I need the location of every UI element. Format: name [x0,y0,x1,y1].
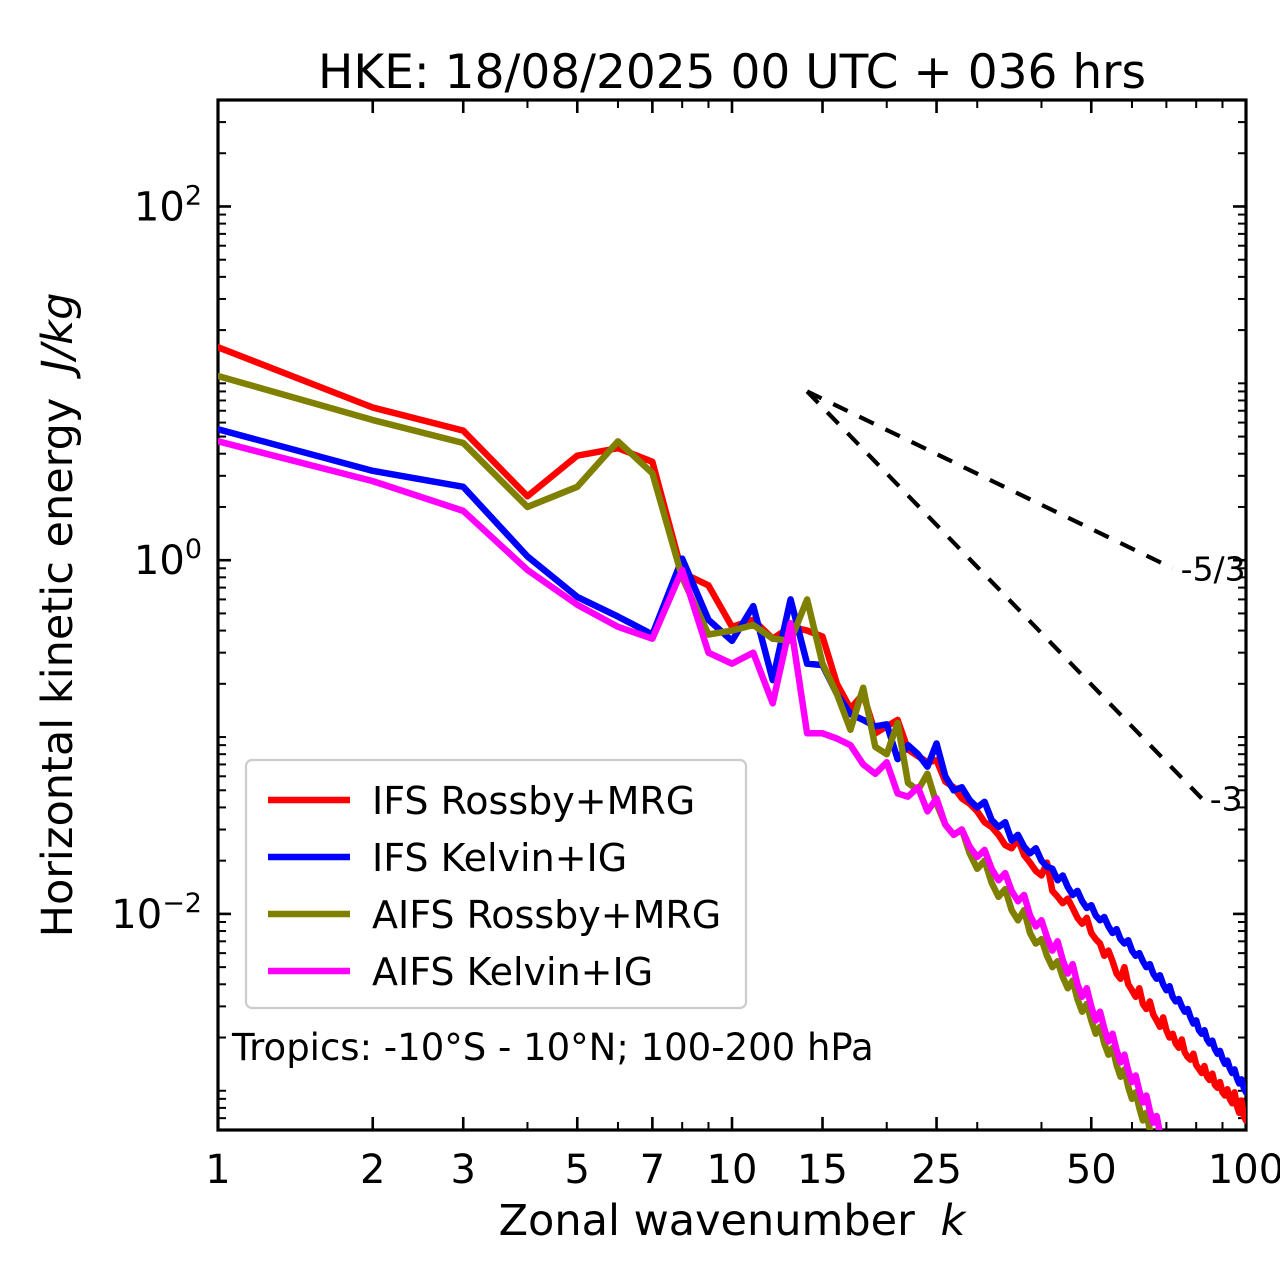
slope-line-3 [807,391,1202,798]
legend-label[interactable]: IFS Kelvin+IG [372,836,627,880]
x-tick-label: 100 [1208,1147,1280,1193]
slope-line-53 [807,391,1173,568]
figure-container: HKE: 18/08/2025 00 UTC + 036 hrs 1235710… [0,0,1280,1288]
x-tick-label: 50 [1066,1147,1117,1193]
x-tick-label: 7 [640,1147,665,1193]
x-tick-label: 25 [911,1147,962,1193]
legend-label[interactable]: AIFS Kelvin+IG [372,950,653,994]
y-tick-label: 10−2 [111,888,202,938]
chart-title: HKE: 18/08/2025 00 UTC + 036 hrs [318,45,1146,100]
x-tick-label: 1 [205,1147,230,1193]
x-tick-label: 3 [451,1147,476,1193]
y-axis-label-main: Horizontal kinetic energy [33,398,83,938]
y-tick-label: 100 [134,534,202,584]
slope-reference-lines: -5/3-3 [807,391,1246,818]
x-axis-label-main: Zonal wavenumber [499,1196,916,1246]
y-tick-label: 102 [134,180,202,230]
y-axis-label: Horizontal kinetic energy J/kg [33,293,83,938]
x-axis-label: Zonal wavenumber k [499,1196,968,1246]
y-axis-label-symbol: J/kg [33,293,83,380]
region-annotation: Tropics: -10°S - 10°N; 100-200 hPa [231,1026,874,1069]
legend-label[interactable]: IFS Rossby+MRG [372,779,695,823]
slope-label: -3 [1210,779,1243,818]
slope-label: -5/3 [1181,549,1246,588]
chart-canvas: HKE: 18/08/2025 00 UTC + 036 hrs 1235710… [0,0,1280,1288]
x-tick-label: 2 [360,1147,385,1193]
x-tick-label: 15 [797,1147,848,1193]
x-tick-label: 10 [707,1147,758,1193]
legend-label[interactable]: AIFS Rossby+MRG [372,893,721,937]
x-tick-label: 5 [565,1147,590,1193]
legend[interactable]: IFS Rossby+MRGIFS Kelvin+IGAIFS Rossby+M… [246,760,746,1008]
x-axis-label-symbol: k [941,1196,968,1246]
